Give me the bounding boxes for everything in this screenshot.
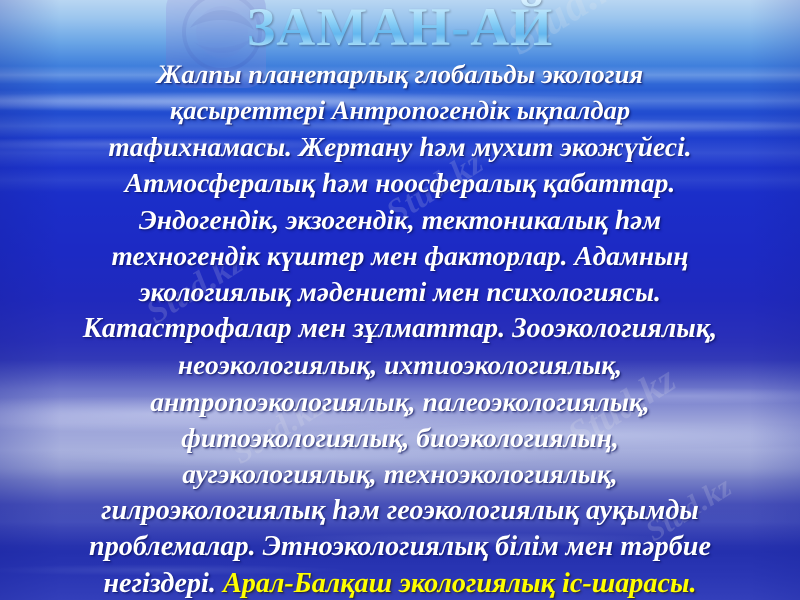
body-line: экологиялық мәдениеті мен психологиясы. (8, 274, 792, 310)
body-line: Атмосфералық һәм ноосфералық қабаттар. (8, 165, 792, 201)
presentation-slide: Stud.kz Stud.kz Stud.kz Stud.kz Stud.kz … (0, 0, 800, 600)
body-line: тафихнамасы. Жертану һәм мухит экожүйесі… (8, 129, 792, 165)
final-line-prefix: негіздері. (103, 568, 223, 599)
body-line: проблемалар. Этноэкологиялық білім мен т… (8, 529, 792, 565)
body-line: Жалпы планетарлық глобальды экология (8, 56, 792, 92)
body-line: Катастрофалар мен зұлматтар. Зооэкология… (8, 311, 792, 347)
slide-content: ЗАМАН-АЙ Жалпы планетарлық глобальды эко… (0, 0, 800, 600)
body-line: Эндогендік, экзогендік, тектоникалық һәм (8, 202, 792, 238)
body-line: аугэкологиялық, техноэкологиялық, (8, 456, 792, 492)
body-line-final: негіздері. Арал-Балқаш экологиялық іс-ша… (8, 566, 792, 600)
body-line: гилроэкологиялық һәм геоэкологиялық ауқы… (8, 493, 792, 529)
body-line: антропоэкологиялық, палеоэкологиялық, (8, 384, 792, 420)
highlighted-topic-text: Арал-Балқаш экологиялық іс-шарасы. (223, 568, 697, 599)
slide-title: ЗАМАН-АЙ (0, 0, 800, 56)
body-line: техногендік күштер мен факторлар. Адамны… (8, 238, 792, 274)
body-line: неоэкологиялық, ихтиоэкологиялық, (8, 347, 792, 383)
body-line: қасыреттері Антропогендік ықпалдар (8, 92, 792, 128)
slide-body-text: Жалпы планетарлық глобальды экологияқасы… (8, 56, 792, 600)
body-line: фитоэкологиялық, биоэкологиялың, (8, 420, 792, 456)
